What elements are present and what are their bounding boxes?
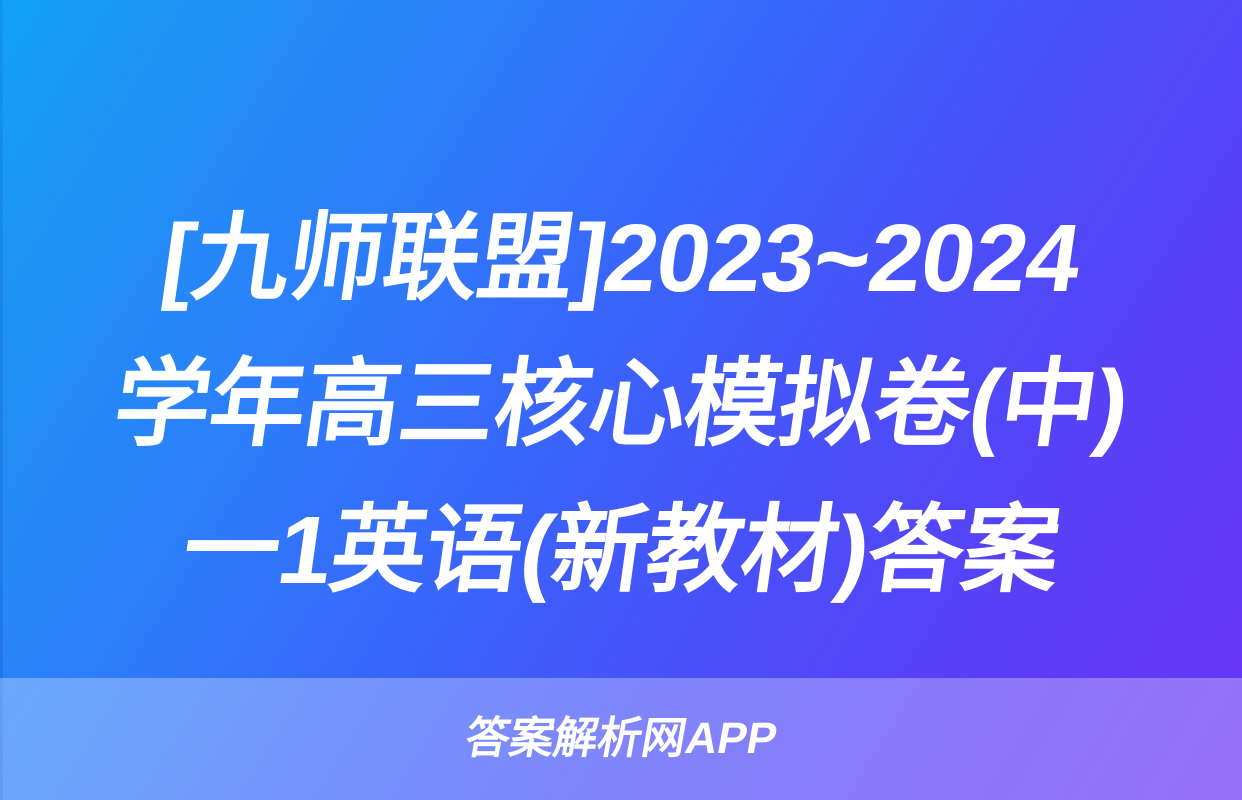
title-line-2: 学年高三核心模拟卷(中) [42,332,1201,478]
title-line-1: [九师联盟]2023~2024 [42,186,1201,332]
title-line-3: 一1英语(新教材)答案 [42,478,1201,624]
footer-watermark-text: 答案解析网APP [462,717,780,761]
footer-watermark-band: 答案解析网APP [0,678,1242,800]
page-title: [九师联盟]2023~2024 学年高三核心模拟卷(中) 一1英语(新教材)答案 [0,186,1242,624]
answer-key-cover-card: [九师联盟]2023~2024 学年高三核心模拟卷(中) 一1英语(新教材)答案… [0,0,1242,800]
